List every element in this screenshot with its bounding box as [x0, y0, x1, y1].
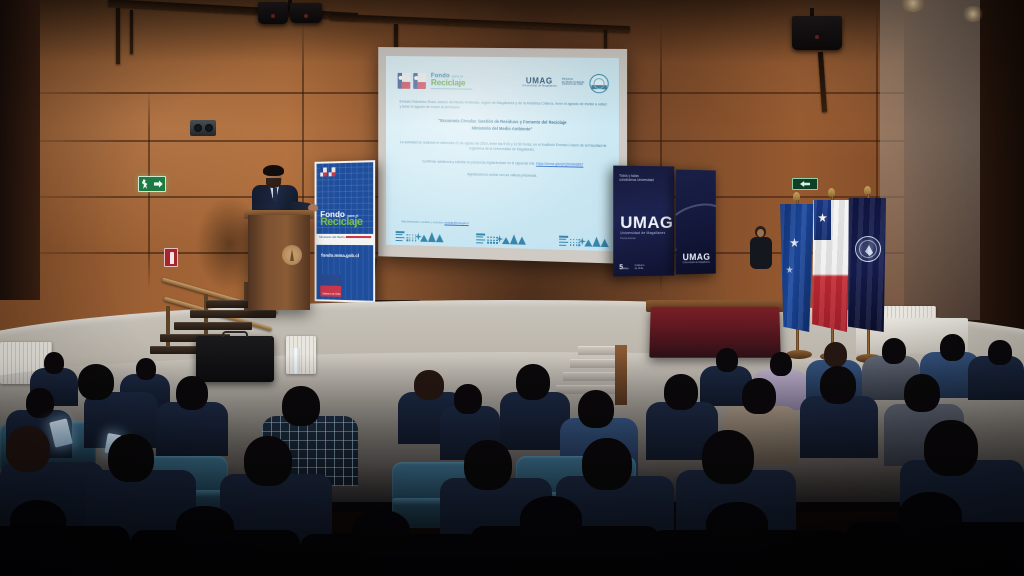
fondo-word-2: Reciclaje	[431, 78, 472, 87]
mountains-icon	[502, 234, 526, 245]
gov-line-3: Gobierno de Chile	[562, 84, 584, 87]
chile-crest-icon	[329, 167, 336, 176]
umag-logo-small: UMAG Universidad de Magallanes	[683, 252, 711, 264]
attendee-head	[582, 438, 632, 490]
emergency-exit-icon	[138, 176, 166, 192]
pattern-group	[477, 233, 526, 244]
pattern-group	[559, 236, 609, 248]
presentation-slide: Fondo para el Reciclaje UMAG Universidad…	[386, 56, 619, 251]
banner-fondo-reciclaje: Fondo para el Reciclaje Ministerio del M…	[315, 160, 376, 303]
auditorium-photo: Fondo para el Reciclaje UMAG Universidad…	[0, 0, 1024, 576]
banner-wordmark: Fondo para el Reciclaje	[320, 209, 362, 228]
presenter-hair	[263, 165, 284, 176]
anniversary-badge: 5años	[619, 264, 628, 271]
attendee-head	[414, 370, 444, 400]
flag-magallanes	[780, 204, 814, 332]
slide-logo-row: Fondo para el Reciclaje UMAG Universidad…	[398, 68, 609, 96]
attendee-head	[520, 496, 582, 544]
exit-arrow-icon	[792, 178, 818, 190]
banner-top-panel: Fondo para el Reciclaje	[316, 162, 373, 234]
ceiling-light	[962, 6, 984, 22]
umag-subtitle: Universidad de Magallanes	[522, 85, 557, 88]
wall-mounted-projector-box	[190, 120, 216, 136]
attendee-head	[770, 352, 792, 376]
institutional-logos: UMAG Universidad de Magallanes Ministeri…	[522, 73, 609, 93]
banner-url: fondo.mma.gob.cl	[321, 253, 359, 258]
mountains-icon	[420, 232, 444, 243]
presenter-beard	[266, 178, 281, 188]
seal-banner	[591, 85, 606, 89]
fondo-wordmark: Fondo para el Reciclaje	[431, 73, 472, 89]
ceiling-speaker	[290, 3, 322, 23]
attendee-head	[742, 378, 776, 414]
government-logo-block: Gobierno de Chile	[320, 275, 341, 297]
partner-line-2: de Chile	[635, 268, 645, 271]
attendee-head	[824, 342, 847, 367]
attendee-head	[924, 420, 978, 476]
arrow-right-icon	[154, 180, 163, 189]
attendee-head	[78, 364, 114, 400]
attendee-head	[882, 338, 906, 364]
presenter-tie	[273, 188, 277, 201]
fire-extinguisher-icon	[164, 248, 178, 267]
footer-email-link[interactable]: reciclaje@mma.gob.cl	[444, 221, 468, 225]
crest-row	[320, 167, 335, 176]
left-wing-wall	[0, 0, 40, 300]
podium-emblem-icon	[282, 245, 302, 265]
ceiling-speaker	[258, 2, 288, 24]
attendee-head	[352, 510, 410, 552]
lens-icon	[205, 124, 213, 132]
slide-decorative-pattern	[396, 225, 609, 247]
slide-title: "Economía Circular, Gestión de Residuos …	[400, 117, 607, 134]
attendee-head	[702, 430, 754, 484]
umag-banner-footer: 5años Gobierno de Chile	[619, 264, 644, 271]
flag-canton	[814, 200, 831, 240]
attendee-head	[940, 334, 965, 361]
attendee-head	[176, 506, 234, 548]
banner-word-2: Reciclaje	[320, 217, 362, 228]
slide-intro-paragraph: Ernesto Rabuloko Rosa, asesor del Medio …	[400, 100, 607, 114]
pattern-group	[396, 231, 444, 242]
attendee-head	[988, 340, 1012, 365]
government-logo: Ministerio de Medio Ambiente Gobierno de…	[562, 78, 584, 87]
banner-bottom-panel: fondo.mma.gob.cl Gobierno de Chile	[316, 245, 373, 301]
attendee-shoulders	[800, 396, 878, 458]
anniversary-label: años	[623, 267, 629, 270]
slide-datetime-paragraph: La actividad se realizará el miércoles 2…	[400, 140, 607, 155]
ceiling-speaker	[792, 16, 842, 50]
dots-icon	[570, 239, 580, 247]
umag-tagline: Todos y todas construimos Universidad	[619, 174, 654, 183]
attendee-head	[578, 390, 614, 428]
umag-logo-large: UMAG Universidad de Magallanes Punta Are…	[620, 214, 673, 240]
audience-area	[0, 330, 1024, 576]
slide-closing-line: Agradecemos contar con su valiosa presen…	[400, 170, 607, 178]
umag-seal-icon	[855, 236, 881, 262]
rail-drop	[116, 8, 120, 64]
rail-drop	[130, 10, 133, 54]
flag-chile	[812, 200, 850, 332]
attendee-head	[464, 440, 512, 490]
dots-icon	[487, 236, 497, 244]
attendee-head	[10, 500, 66, 544]
attendee-head	[26, 388, 54, 418]
lone-star-icon	[818, 213, 827, 222]
attendee-head	[454, 384, 482, 414]
attendee-shoulders	[156, 402, 228, 456]
flag-umag	[848, 198, 886, 332]
attendee-head	[282, 386, 320, 426]
attendee-head	[898, 492, 962, 542]
attendee-head	[820, 366, 856, 404]
attendee-head	[44, 352, 64, 374]
dots-icon	[406, 234, 416, 242]
rsvp-text: Confirmar asistencia y solicitar su pres…	[422, 159, 535, 165]
umag-subtitle: Universidad de Magallanes	[620, 232, 673, 236]
attendee-head	[664, 374, 698, 410]
slide-rsvp-paragraph: Confirmar asistencia y solicitar su pres…	[400, 159, 607, 167]
banner-mid-strip: Ministerio del Medio Ambiente	[316, 234, 373, 245]
divider	[431, 88, 472, 90]
star-icon	[790, 238, 799, 247]
ministry-seal-icon	[589, 73, 608, 92]
mountains-icon	[584, 236, 608, 247]
arrow-left-icon	[800, 181, 810, 188]
banner-umag-secondary: UMAG Universidad de Magallanes	[676, 170, 716, 275]
footer-text: Más información, contacto y consultas:	[402, 220, 445, 224]
attendee-head	[136, 358, 156, 380]
lines-icon	[396, 231, 405, 241]
star-icon	[786, 266, 793, 273]
projection-screen: Fondo para el Reciclaje UMAG Universidad…	[378, 47, 627, 264]
attendee-head	[516, 364, 550, 400]
gov-label: Gobierno de Chile	[322, 292, 340, 295]
lines-icon	[559, 236, 568, 246]
banner-umag-primary: Todos y todas construimos Universidad UM…	[613, 166, 674, 277]
attendee-head	[716, 348, 738, 372]
lines-icon	[477, 234, 486, 244]
umag-tagline-line-2: construimos Universidad	[619, 178, 654, 183]
attendee-head	[6, 426, 50, 472]
attendee-head	[244, 436, 292, 486]
partner-logo: Gobierno de Chile	[635, 265, 645, 271]
standing-attendee	[748, 226, 774, 268]
pale-wall-panel	[880, 0, 980, 320]
rsvp-link[interactable]: https://forms.gle/qXQ9Xwhd8S7	[536, 161, 583, 166]
umag-subtitle: Universidad de Magallanes	[683, 261, 711, 264]
fondo-reciclaje-logo: Fondo para el Reciclaje	[398, 73, 473, 90]
running-person-icon	[141, 179, 149, 189]
slide-text-body: Ernesto Rabuloko Rosa, asesor del Medio …	[400, 100, 607, 179]
attendee-head	[904, 374, 940, 412]
umag-tertiary: Punta Arenas	[620, 238, 673, 241]
attendee-head	[108, 434, 154, 482]
umag-logo: UMAG Universidad de Magallanes	[522, 77, 557, 88]
podium	[248, 215, 310, 310]
accent-bar	[346, 236, 371, 238]
chile-crest-icon	[413, 73, 426, 89]
attendee-head	[706, 502, 768, 548]
chile-crest-icon	[398, 73, 411, 89]
umag-acronym: UMAG	[620, 214, 673, 231]
attendee-head	[176, 376, 208, 410]
chile-crest-icon	[320, 167, 327, 176]
lens-icon	[194, 124, 202, 132]
